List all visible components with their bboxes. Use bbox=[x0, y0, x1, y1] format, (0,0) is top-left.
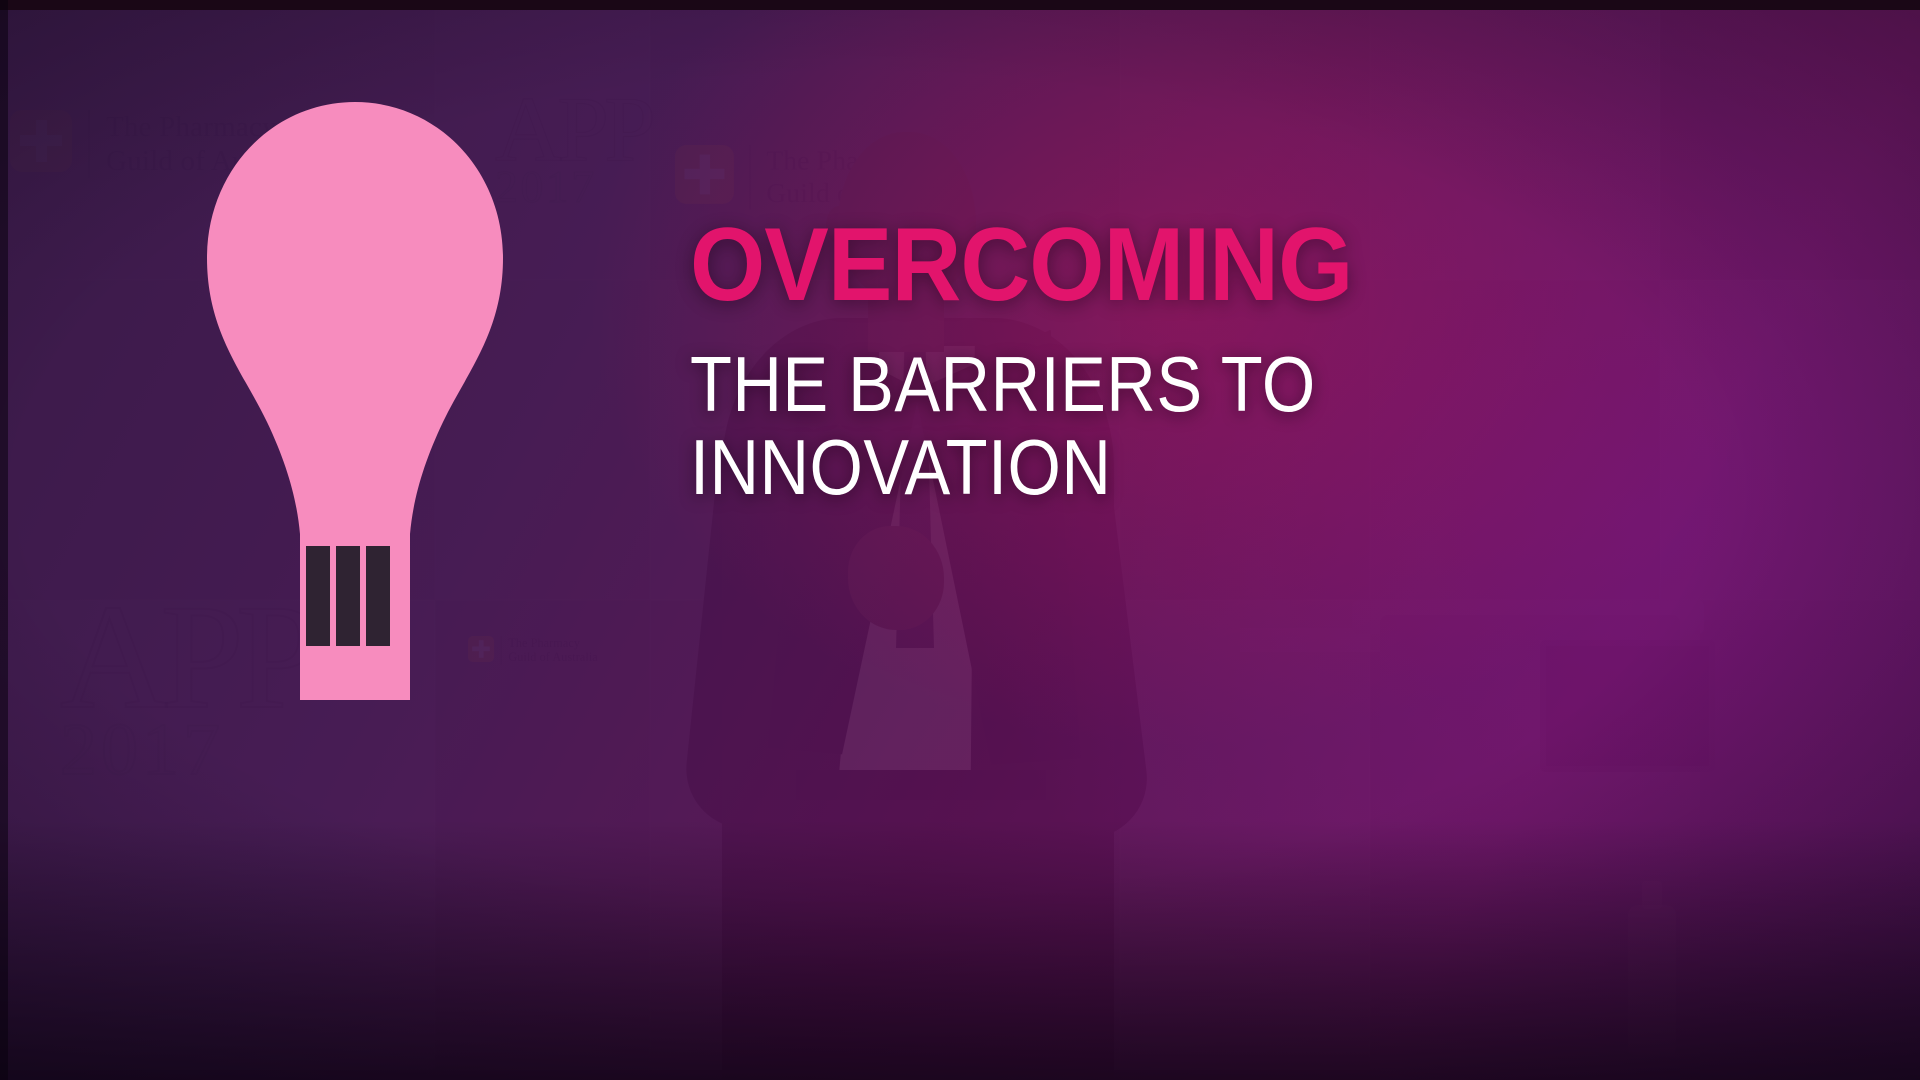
title-card-stage: The Pharmacy Guild of Australia The Phar… bbox=[0, 0, 1920, 1080]
bottom-fade-layer bbox=[0, 820, 1920, 1080]
title-lockup: OVERCOMING THE BARRIERS TO INNOVATION bbox=[690, 218, 1470, 508]
balloon-basket-stripes bbox=[306, 546, 390, 646]
title-line-overcoming: OVERCOMING bbox=[690, 218, 1415, 314]
title-line-innovation: INNOVATION bbox=[690, 427, 1376, 508]
title-line-the-barriers-to: THE BARRIERS TO bbox=[690, 344, 1376, 425]
hot-air-balloon-logo bbox=[205, 100, 505, 700]
left-edge-shadow bbox=[0, 0, 8, 1080]
top-letterbox-bar bbox=[0, 0, 1920, 10]
balloon-envelope bbox=[207, 102, 503, 534]
